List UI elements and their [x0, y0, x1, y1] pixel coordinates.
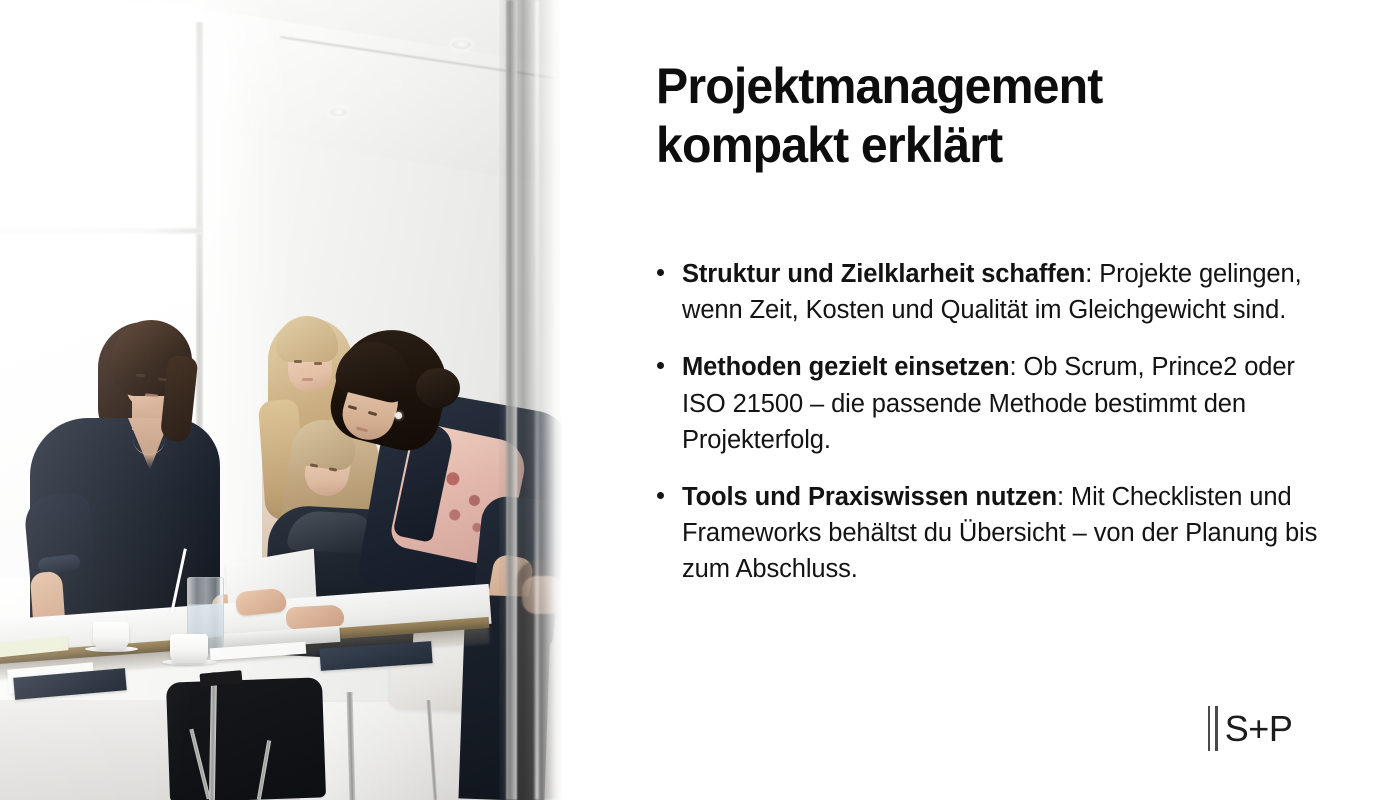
logo-text: S+P — [1225, 711, 1293, 747]
list-item: Struktur und Zielklarheit schaffen: Proj… — [650, 256, 1330, 328]
bullet-lead: Struktur und Zielklarheit schaffen — [682, 260, 1085, 288]
necklace — [133, 424, 165, 455]
hair-bun — [416, 368, 460, 408]
photo-scene — [0, 0, 563, 800]
bullet-lead: Tools und Praxiswissen nutzen — [682, 483, 1057, 511]
hero-photo — [0, 0, 563, 800]
eye — [314, 362, 322, 365]
page-title: Projektmanagementkompakt erklärt — [656, 57, 1254, 175]
ceiling-downlight — [452, 40, 471, 49]
logo-bars-icon — [1208, 706, 1218, 751]
title-line-1: Projektmanagement — [656, 58, 1102, 114]
office-chair-dark — [166, 677, 326, 800]
bullet-dot-icon — [657, 362, 664, 369]
brand-logo: S+P — [1208, 706, 1292, 751]
partition-post — [506, 0, 517, 800]
bullet-dot-icon — [657, 492, 664, 499]
mouth — [302, 378, 313, 381]
ceiling-downlight — [392, 82, 399, 86]
title-line-2: kompakt erklärt — [656, 117, 1002, 173]
coffee-cup — [93, 622, 129, 649]
bullet-dot-icon — [657, 269, 664, 276]
earring — [395, 412, 402, 419]
bullet-list: Struktur und Zielklarheit schaffen: Proj… — [650, 256, 1330, 588]
list-item: Tools und Praxiswissen nutzen: Mit Check… — [650, 479, 1330, 588]
list-item: Methoden gezielt einsetzen: Ob Scrum, Pr… — [650, 349, 1330, 458]
coffee-cup — [170, 634, 208, 663]
window-frame-horizontal — [0, 228, 202, 234]
partition-highlight — [535, 0, 539, 800]
content-panel: Projektmanagementkompakt erklärt Struktu… — [563, 0, 1400, 800]
eye — [294, 360, 302, 363]
slide: Projektmanagementkompakt erklärt Struktu… — [0, 0, 1400, 800]
ceiling-downlight — [330, 108, 347, 116]
bullet-lead: Methoden gezielt einsetzen — [682, 353, 1010, 381]
